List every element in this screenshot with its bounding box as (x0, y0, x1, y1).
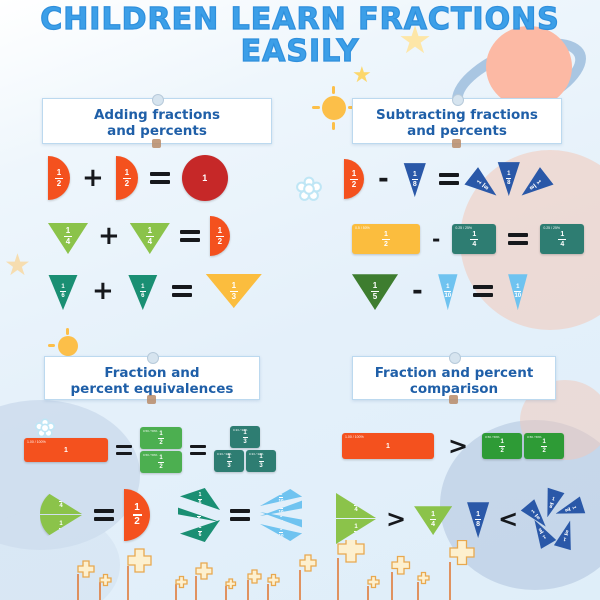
shape-quarter-wedge: 14 (40, 488, 82, 514)
page-title-text: CHILDREN LEARN FRACTIONS EASILY (40, 2, 560, 69)
fan-wedge: 18 (462, 165, 504, 205)
shape-full-circle: 1 (182, 155, 228, 201)
clip-icon (452, 139, 461, 148)
adding-row-1: 12 + 12 1 (48, 155, 228, 201)
bar-tile-third: 0.33 / 33% 13 (214, 450, 244, 472)
shape-quarter-wedge: 14 (414, 503, 452, 535)
tile-decimal: 0.33 / 33% (217, 452, 231, 456)
panel-comparison-line1: Fraction and percent (353, 365, 555, 381)
eighths-cluster: 18 18 18 18 18 (526, 488, 588, 550)
tile-decimal: 0.50 / 50% (143, 429, 157, 433)
operator-equals (230, 509, 250, 521)
bar-tile-half: 0.50 / 50% 12 (140, 427, 182, 449)
sun-ray (66, 328, 69, 335)
shape-label: 18 (552, 512, 581, 552)
flower-icon (296, 176, 322, 207)
shape-label: 12 (124, 489, 150, 541)
fan-wedge: 18 (552, 518, 579, 552)
tenths-fan: 110 110 110 110 (260, 488, 304, 542)
shape-label: 18 (466, 500, 490, 546)
adding-row-2: 14 + 14 12 (48, 216, 230, 256)
shape-label: 18 (403, 161, 427, 205)
bar-tile-half: 0.50 / 50% 12 (140, 451, 182, 473)
pin-icon (452, 94, 464, 106)
operator-equals (116, 445, 132, 455)
tile-decimal: 0.50 / 50% (527, 435, 541, 439)
sun-icon (322, 96, 346, 120)
shape-label: 14 (48, 218, 88, 262)
shape-label: 14 (336, 519, 386, 544)
operator-minus: - (432, 229, 440, 249)
shape-quarter-wedge: 14 (48, 218, 88, 254)
panel-adding: Adding fractions and percents (42, 98, 272, 144)
bar-tile-third: 0.33 / 33% 13 (246, 450, 276, 472)
shape-label: 12 (210, 216, 230, 256)
comparison-row-2: 14 14 > 14 18 < 18 18 18 18 18 (336, 488, 588, 550)
bar-tile-whole: 1.00 / 100% 1 (342, 433, 434, 459)
shape-quarter-wedge: 14 (40, 515, 82, 541)
adding-row-3: 16 + 16 13 (48, 272, 262, 310)
operator-equals (172, 285, 192, 297)
bar-tile-half: 0.50 / 50% 12 (524, 433, 564, 459)
subtracting-row-1: 12 - 18 18 18 18 (344, 158, 551, 200)
tile-decimal: 0.5 / 50% (355, 226, 370, 230)
tile-decimal: 0.50 / 50% (143, 453, 157, 457)
sun-ray (48, 344, 55, 347)
shape-half-circle: 12 (344, 159, 364, 199)
subtracting-row-2: 0.5 / 50% 12 - 0.25 / 25% 14 0.25 / 25% … (352, 224, 584, 254)
sun-ray (312, 106, 320, 109)
bar-tile-quarter: 0.25 / 25% 14 (540, 224, 584, 254)
shape-label: 16 (180, 488, 220, 510)
quarters-pair: 14 14 (336, 493, 378, 545)
bar-tile-whole: 1.00 / 100% 1 (24, 438, 108, 462)
equivalences-row-1: 1.00 / 100% 1 0.50 / 50% 12 0.50 / 50% 1… (24, 426, 276, 474)
tile-decimal: 0.33 / 33% (249, 452, 263, 456)
sun-icon (58, 336, 78, 356)
halves-pair: 0.50 / 50% 12 0.50 / 50% 12 (482, 433, 564, 459)
shape-label: 14 (40, 488, 92, 514)
fan-wedge: 18 (538, 486, 566, 521)
shape-label: 110 (260, 524, 302, 541)
fan-wedge: 110 (260, 524, 302, 541)
operator-equals (150, 172, 170, 184)
shape-tenth-wedge: 110 (437, 272, 459, 310)
bar-tile-quarter: 0.25 / 25% 14 (452, 224, 496, 254)
operator-greater-than: > (386, 505, 406, 533)
subtracting-row-3: 15 - 110 110 (352, 272, 529, 310)
panel-equivalences-line1: Fraction and (45, 365, 259, 381)
tile-decimal: 1.00 / 100% (27, 440, 46, 444)
operator-equals (94, 509, 114, 521)
shape-quarter-wedge: 14 (130, 218, 170, 254)
operator-plus: + (98, 223, 120, 249)
shape-eighth-wedge: 18 (466, 500, 490, 538)
panel-subtracting-line1: Subtracting fractions (353, 107, 561, 123)
panel-comparison: Fraction and percent comparison (352, 356, 556, 400)
shape-label: 16 (180, 520, 220, 542)
shape-eighth-wedge: 18 (403, 161, 427, 197)
bar-tile-third: 0.33 / 33% 13 (230, 426, 260, 448)
shape-label: 14 (130, 218, 170, 262)
shape-label: 13 (206, 274, 262, 316)
panel-subtracting: Subtracting fractions and percents (352, 98, 562, 144)
operator-minus: - (378, 166, 389, 192)
star-icon: ★ (4, 248, 31, 283)
shape-half-circle: 12 (124, 489, 150, 541)
operator-plus: + (82, 165, 104, 191)
shape-eighth-fan-3: 18 18 18 (471, 158, 551, 200)
sun-ray (332, 86, 335, 94)
shape-label: 12 (116, 156, 138, 200)
operator-greater-than: > (448, 432, 468, 460)
shape-sixth-wedge: 16 (48, 272, 78, 310)
operator-equals (508, 233, 528, 245)
operator-plus: + (92, 278, 114, 304)
operator-equals (190, 445, 206, 455)
shape-label: 12 (344, 159, 364, 199)
shape-sixth-wedge: 16 (180, 520, 220, 542)
thirds-cluster: 0.33 / 33% 13 0.33 / 33% 13 0.33 / 33% 1… (214, 426, 276, 474)
page-title: CHILDREN LEARN FRACTIONS EASILY (0, 4, 600, 67)
shape-quarter-wedge: 14 (336, 493, 376, 518)
operator-less-than: < (498, 505, 518, 533)
fan-wedge: 18 (497, 160, 521, 196)
shape-half-circle: 12 (48, 156, 70, 200)
shape-label: 1 (182, 155, 228, 201)
operator-equals (180, 230, 200, 242)
pin-icon (147, 352, 159, 364)
clip-icon (449, 395, 458, 404)
sun-ray (332, 122, 335, 130)
pin-icon (152, 94, 164, 106)
tile-decimal: 0.33 / 33% (233, 428, 247, 432)
shape-half-circle: 12 (210, 216, 230, 256)
clip-icon (147, 395, 156, 404)
panel-adding-line2: and percents (43, 123, 271, 139)
shape-sixth-wedge: 16 (180, 488, 220, 510)
pin-icon (449, 352, 461, 364)
shape-sixth-wedge: 16 (128, 272, 158, 310)
shape-quarter-wedge: 14 (336, 519, 376, 544)
quarters-pair: 14 14 (40, 488, 84, 542)
shape-label: 15 (352, 272, 398, 316)
operator-equals (473, 285, 493, 297)
shape-label: 14 (414, 503, 452, 541)
tile-decimal: 0.25 / 25% (543, 226, 560, 230)
shape-fifth-wedge: 15 (352, 272, 398, 310)
halves-stack: 0.50 / 50% 12 0.50 / 50% 12 (140, 427, 182, 473)
panel-equivalences: Fraction and percent equivalences (44, 356, 260, 400)
operator-minus: - (412, 278, 423, 304)
shape-label: 18 (497, 160, 521, 204)
shape-tenth-wedge: 110 (507, 272, 529, 310)
equivalences-row-2: 14 14 12 16 16 16 110 110 110 110 (40, 488, 304, 542)
bar-tile-half: 0.50 / 50% 12 (482, 433, 522, 459)
clip-icon (152, 139, 161, 148)
shape-label: 14 (40, 515, 92, 541)
shape-third-wedge: 13 (206, 274, 262, 308)
shape-half-circle: 12 (116, 156, 138, 200)
sixths-group: 16 16 16 (178, 488, 220, 542)
comparison-row-1: 1.00 / 100% 1 > 0.50 / 50% 12 0.50 / 50%… (342, 432, 564, 460)
fan-wedge: 18 (514, 165, 556, 205)
panel-adding-line1: Adding fractions (43, 107, 271, 123)
tile-decimal: 0.50 / 50% (485, 435, 499, 439)
shape-label: 14 (336, 493, 386, 518)
tile-decimal: 0.25 / 25% (455, 226, 472, 230)
panel-subtracting-line2: and percents (353, 123, 561, 139)
operator-equals (439, 173, 459, 185)
bar-tile-half: 0.5 / 50% 12 (352, 224, 420, 254)
tile-decimal: 1.00 / 100% (345, 435, 364, 439)
shape-label: 12 (48, 156, 70, 200)
